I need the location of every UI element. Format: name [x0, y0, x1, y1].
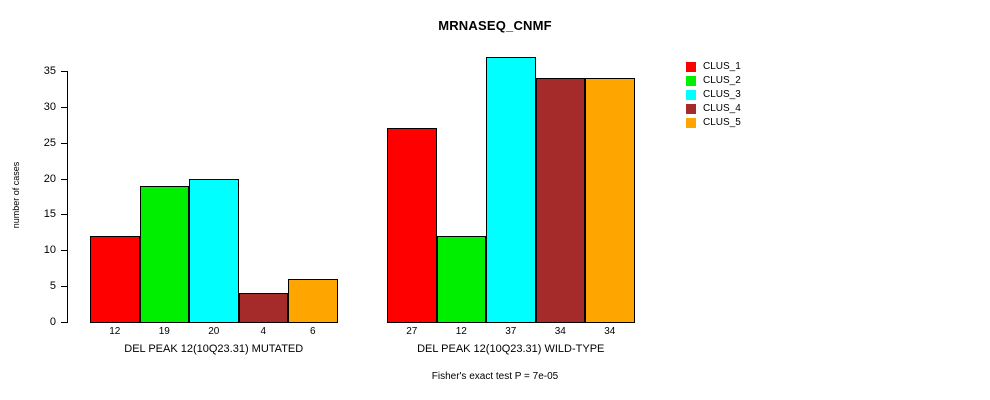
- legend-swatch-icon: [686, 62, 696, 72]
- bar-value-label: 12: [437, 326, 487, 337]
- chart-canvas: MRNASEQ_CNMF number of cases 05101520253…: [0, 0, 990, 400]
- bar-value-label: 4: [239, 326, 289, 337]
- legend-swatch-icon: [686, 104, 696, 114]
- legend-item-clus_4[interactable]: CLUS_4: [686, 102, 806, 116]
- group-caption: DEL PEAK 12(10Q23.31) MUTATED: [64, 343, 364, 355]
- bar: [140, 186, 190, 323]
- legend-item-clus_5[interactable]: CLUS_5: [686, 116, 806, 130]
- bar-value-label: 20: [189, 326, 239, 337]
- bar-value-label: 27: [387, 326, 437, 337]
- legend-item-clus_2[interactable]: CLUS_2: [686, 74, 806, 88]
- bar: [239, 293, 289, 323]
- bar: [90, 236, 140, 323]
- legend-label: CLUS_3: [703, 90, 741, 100]
- legend-swatch-icon: [686, 76, 696, 86]
- bar-value-label: 37: [486, 326, 536, 337]
- legend-swatch-icon: [686, 90, 696, 100]
- legend-label: CLUS_4: [703, 104, 741, 114]
- plot-area: 12192046DEL PEAK 12(10Q23.31) MUTATED271…: [0, 0, 990, 400]
- bar-value-label: 34: [536, 326, 586, 337]
- bar: [486, 57, 536, 323]
- legend-item-clus_3[interactable]: CLUS_3: [686, 88, 806, 102]
- statistical-test-caption: Fisher's exact test P = 7e-05: [0, 371, 990, 382]
- bar-value-label: 12: [90, 326, 140, 337]
- bar-value-label: 6: [288, 326, 338, 337]
- bar: [387, 128, 437, 323]
- bar-value-label: 19: [140, 326, 190, 337]
- bar-value-label: 34: [585, 326, 635, 337]
- legend-item-clus_1[interactable]: CLUS_1: [686, 60, 806, 74]
- bar: [536, 78, 586, 323]
- legend-swatch-icon: [686, 118, 696, 128]
- legend: CLUS_1CLUS_2CLUS_3CLUS_4CLUS_5: [686, 60, 806, 130]
- legend-label: CLUS_1: [703, 62, 741, 72]
- bar: [288, 279, 338, 323]
- legend-label: CLUS_5: [703, 118, 741, 128]
- bar: [437, 236, 487, 323]
- group-baseline: [387, 322, 635, 323]
- bar: [585, 78, 635, 323]
- group-caption: DEL PEAK 12(10Q23.31) WILD-TYPE: [361, 343, 661, 355]
- group-baseline: [90, 322, 338, 323]
- legend-label: CLUS_2: [703, 76, 741, 86]
- bar: [189, 179, 239, 323]
